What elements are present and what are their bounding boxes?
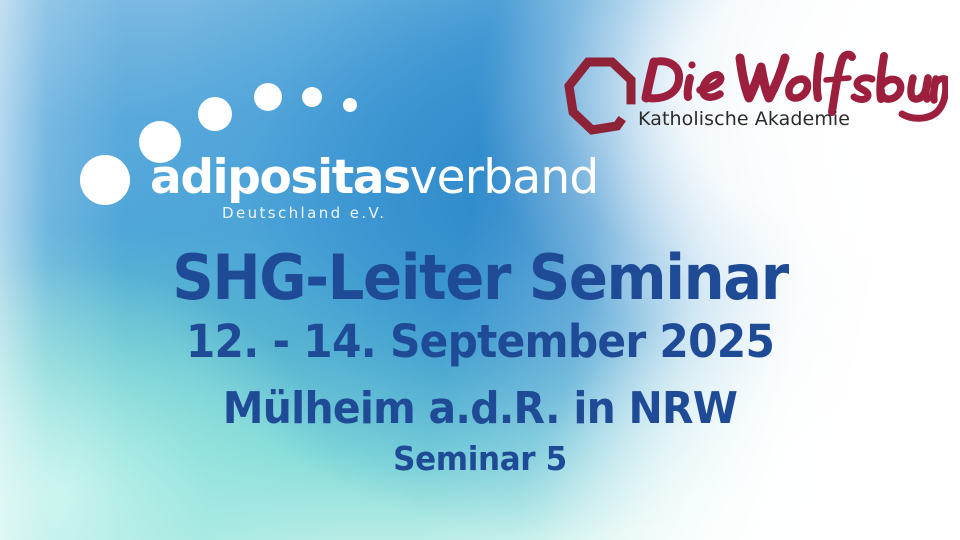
logo-dot-3: [198, 97, 232, 131]
logo-dot-5: [302, 87, 322, 107]
octagon-icon: [562, 56, 638, 138]
headline-block: SHG-Leiter Seminar 12. - 14. September 2…: [0, 246, 960, 476]
logo-wordmark-bold: adipositas: [150, 150, 410, 205]
adipositasverband-logo: adipositasverband Deutschland e.V.: [62, 62, 502, 242]
event-seminar-number: Seminar 5: [29, 442, 931, 476]
wolfsburg-subtitle: Katholische Akademie: [638, 108, 850, 130]
logo-dot-1: [80, 155, 130, 205]
event-banner: adipositasverband Deutschland e.V.: [0, 0, 960, 540]
logo-subtitle: Deutschland e.V.: [222, 204, 386, 222]
event-location: Mülheim a.d.R. in NRW: [34, 387, 927, 432]
logo-wordmark: adipositasverband: [150, 154, 598, 201]
logo-wordmark-light: verband: [410, 150, 599, 205]
logo-dot-4: [254, 83, 282, 111]
page-title: SHG-Leiter Seminar: [34, 246, 927, 309]
die-wolfsburg-logo: Katholische Akademie: [558, 50, 948, 150]
event-dates: 12. - 14. September 2025: [29, 319, 931, 365]
logo-dot-6: [343, 98, 357, 112]
